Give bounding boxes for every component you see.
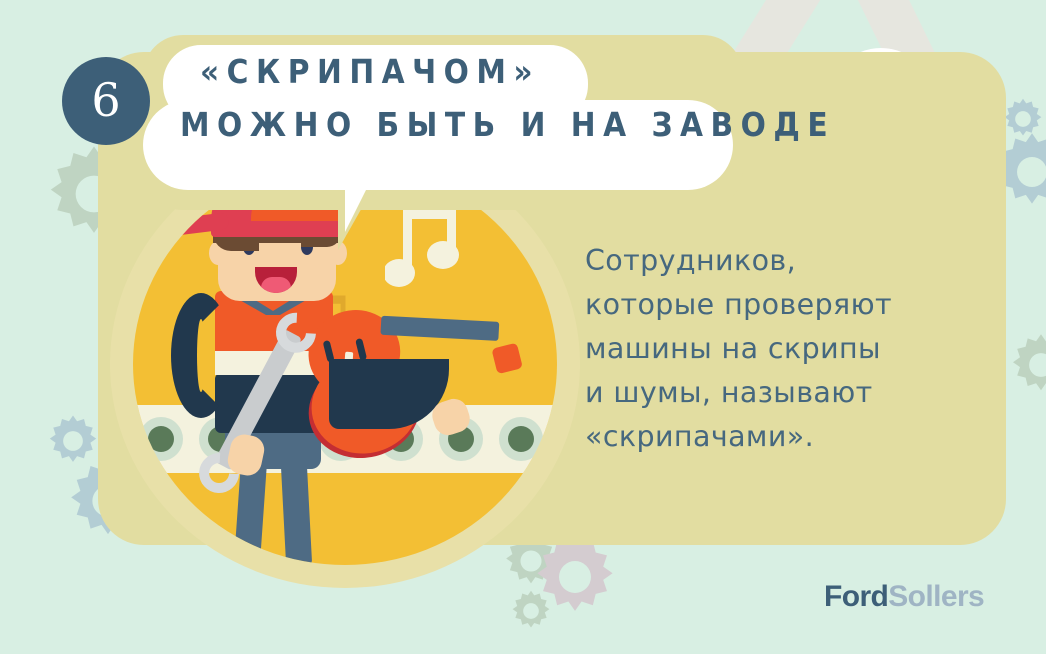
worker-mouth xyxy=(255,267,297,293)
title-line-1: «СКРИПАЧОМ» xyxy=(178,52,738,92)
step-number-badge: 6 xyxy=(62,57,150,145)
brand-logo: FordSollers xyxy=(824,580,984,614)
body-line-1: Сотрудников, xyxy=(585,239,985,283)
gear-icon xyxy=(1006,330,1046,400)
violin-scroll xyxy=(491,343,523,375)
gear-icon xyxy=(508,588,554,634)
page-title: «СКРИПАЧОМ» МОЖНО БЫТЬ И НА ЗАВОДЕ xyxy=(178,52,738,192)
body-line-3: машины на скрипы xyxy=(585,327,985,371)
body-text: Сотрудников, которые проверяют машины на… xyxy=(585,239,985,459)
body-line-5: «скрипачами». xyxy=(585,415,985,459)
logo-sollers: Sollers xyxy=(888,580,984,613)
infographic-slide: «СКРИПАЧОМ» МОЖНО БЫТЬ И НА ЗАВОДЕ 6 Сот… xyxy=(0,0,1046,654)
violin-neck xyxy=(380,316,499,341)
body-line-2: которые проверяют xyxy=(585,283,985,327)
step-number: 6 xyxy=(91,77,120,123)
worker-arm-left xyxy=(171,293,231,418)
title-line-2: МОЖНО БЫТЬ И НА ЗАВОДЕ xyxy=(178,105,738,145)
body-line-4: и шумы, называют xyxy=(585,371,985,415)
gear-icon xyxy=(1000,96,1046,142)
logo-ford: Ford xyxy=(824,580,888,613)
cap-band xyxy=(211,221,347,237)
worker-tongue xyxy=(261,277,291,293)
